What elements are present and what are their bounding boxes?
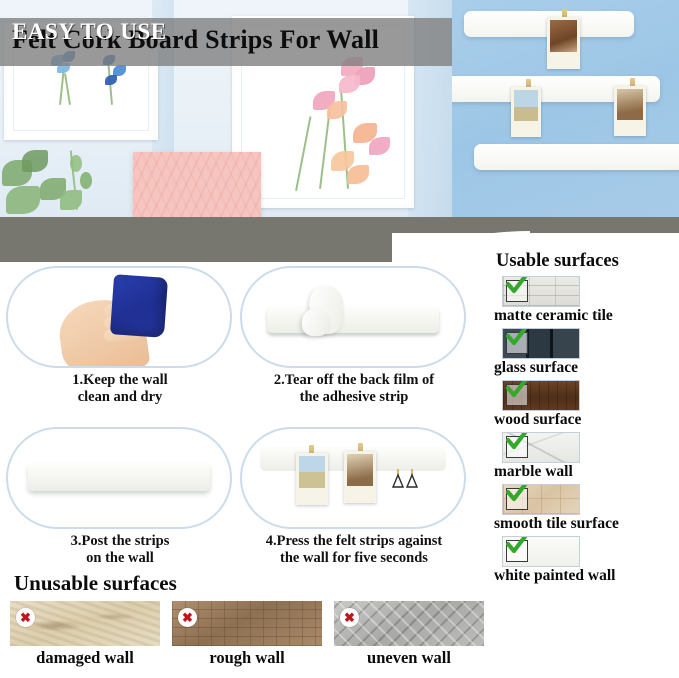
- step-4-caption-line2: the wall for five seconds: [240, 550, 468, 567]
- unusable-thumb-uneven: ✖: [334, 601, 484, 646]
- step-3-caption-line1: 3.Post the strips: [6, 533, 234, 550]
- list-item: smooth tile surface: [494, 485, 679, 533]
- list-item: matte ceramic tile: [494, 277, 679, 325]
- step-3-caption: 3.Post the strips on the wall: [6, 533, 234, 567]
- step-2-illustration: [240, 266, 466, 368]
- unusable-thumb-damaged: ✖: [10, 601, 160, 646]
- list-item: glass surface: [494, 329, 679, 377]
- photo-card-right: [614, 86, 646, 136]
- banner-body: [0, 217, 392, 262]
- usable-thumb-white-painted-wall: [503, 537, 579, 566]
- unusable-label-damaged: damaged wall: [10, 648, 160, 668]
- step-1: 1.Keep the wall clean and dry: [6, 266, 234, 406]
- list-item: ✖ uneven wall: [334, 601, 484, 668]
- step-1-caption-line1: 1.Keep the wall: [6, 372, 234, 389]
- unusable-thumb-rough: ✖: [172, 601, 322, 646]
- usable-thumb-marble-wall: [503, 433, 579, 462]
- step-1-caption-line2: clean and dry: [6, 389, 234, 406]
- usable-label-matte-ceramic-tile: matte ceramic tile: [494, 307, 679, 325]
- cleaning-cloth-icon: [110, 274, 168, 338]
- easy-to-use-label: EASY TO USE: [12, 19, 167, 45]
- plant-leaf: [6, 186, 40, 214]
- unusable-surfaces-list: ✖ damaged wall ✖ rough wall ✖ uneven wal…: [10, 601, 490, 668]
- usable-thumb-matte-ceramic-tile: [503, 277, 579, 306]
- plant-leaf: [70, 155, 82, 172]
- green-check-icon: [504, 537, 530, 557]
- felt-strip: [28, 463, 210, 491]
- list-item: white painted wall: [494, 537, 679, 585]
- step-3-caption-line2: on the wall: [6, 550, 234, 567]
- photo-image: [617, 89, 643, 120]
- photo-card: [296, 453, 328, 505]
- step-2-caption: 2.Tear off the back film of the adhesive…: [240, 372, 468, 406]
- usable-label-glass-surface: glass surface: [494, 359, 679, 377]
- usable-label-marble-wall: marble wall: [494, 463, 679, 481]
- green-check-icon: [504, 329, 530, 349]
- usable-thumb-glass-surface: [503, 329, 579, 358]
- step-4-caption-line1: 4.Press the felt strips against: [240, 533, 468, 550]
- green-check-icon: [504, 381, 530, 401]
- list-item: ✖ damaged wall: [10, 601, 160, 668]
- photo-card: [344, 451, 376, 503]
- unusable-label-rough: rough wall: [172, 648, 322, 668]
- plant-leaf: [60, 190, 82, 210]
- list-item: ✖ rough wall: [172, 601, 322, 668]
- step-1-caption: 1.Keep the wall clean and dry: [6, 372, 234, 406]
- step-4-caption: 4.Press the felt strips against the wall…: [240, 533, 468, 567]
- photo-card-left: [511, 87, 541, 137]
- green-check-icon: [504, 277, 530, 297]
- step-3: 3.Post the strips on the wall: [6, 427, 234, 567]
- green-check-icon: [504, 485, 530, 505]
- step-2-caption-line1: 2.Tear off the back film of: [240, 372, 468, 389]
- felt-strip: [267, 306, 439, 333]
- usable-surfaces-section: Usable surfaces matte ceramic tile glass…: [494, 251, 679, 589]
- usable-thumb-smooth-tile-surface: [503, 485, 579, 514]
- pink-textured-panel: [133, 152, 261, 217]
- usable-surfaces-heading: Usable surfaces: [496, 251, 679, 272]
- list-item: marble wall: [494, 433, 679, 481]
- list-item: wood surface: [494, 381, 679, 429]
- photo-card-top: [547, 17, 580, 69]
- usable-thumb-wood-surface: [503, 381, 579, 410]
- backing-film-curl: [302, 308, 330, 336]
- red-x-icon: ✖: [178, 608, 197, 627]
- plant-leaf: [22, 150, 48, 172]
- infographic-page: Felt Cork Board Strips For Wall EASY TO …: [0, 0, 679, 678]
- red-x-icon: ✖: [16, 608, 35, 627]
- step-2-caption-line2: the adhesive strip: [240, 389, 468, 406]
- usable-label-smooth-tile-surface: smooth tile surface: [494, 515, 679, 533]
- photo-image: [347, 454, 373, 486]
- unusable-label-uneven: uneven wall: [334, 648, 484, 668]
- step-1-illustration: [6, 266, 232, 368]
- usable-label-white-painted-wall: white painted wall: [494, 567, 679, 585]
- green-check-icon: [504, 433, 530, 453]
- plant-leaf: [80, 172, 92, 189]
- unusable-surfaces-heading: Unusable surfaces: [14, 571, 490, 596]
- usable-label-wood-surface: wood surface: [494, 411, 679, 429]
- felt-strip-bottom: [474, 144, 679, 170]
- hero-right-scene: [452, 0, 679, 217]
- earring-icon: [404, 467, 420, 493]
- unusable-surfaces-section: Unusable surfaces ✖ damaged wall ✖ rough…: [10, 571, 490, 668]
- photo-image: [299, 456, 325, 488]
- step-4: 4.Press the felt strips against the wall…: [240, 427, 468, 567]
- step-2: 2.Tear off the back film of the adhesive…: [240, 266, 468, 406]
- step-4-illustration: [240, 427, 466, 529]
- red-x-icon: ✖: [340, 608, 359, 627]
- photo-image: [550, 20, 577, 52]
- photo-image: [514, 90, 538, 121]
- step-3-illustration: [6, 427, 232, 529]
